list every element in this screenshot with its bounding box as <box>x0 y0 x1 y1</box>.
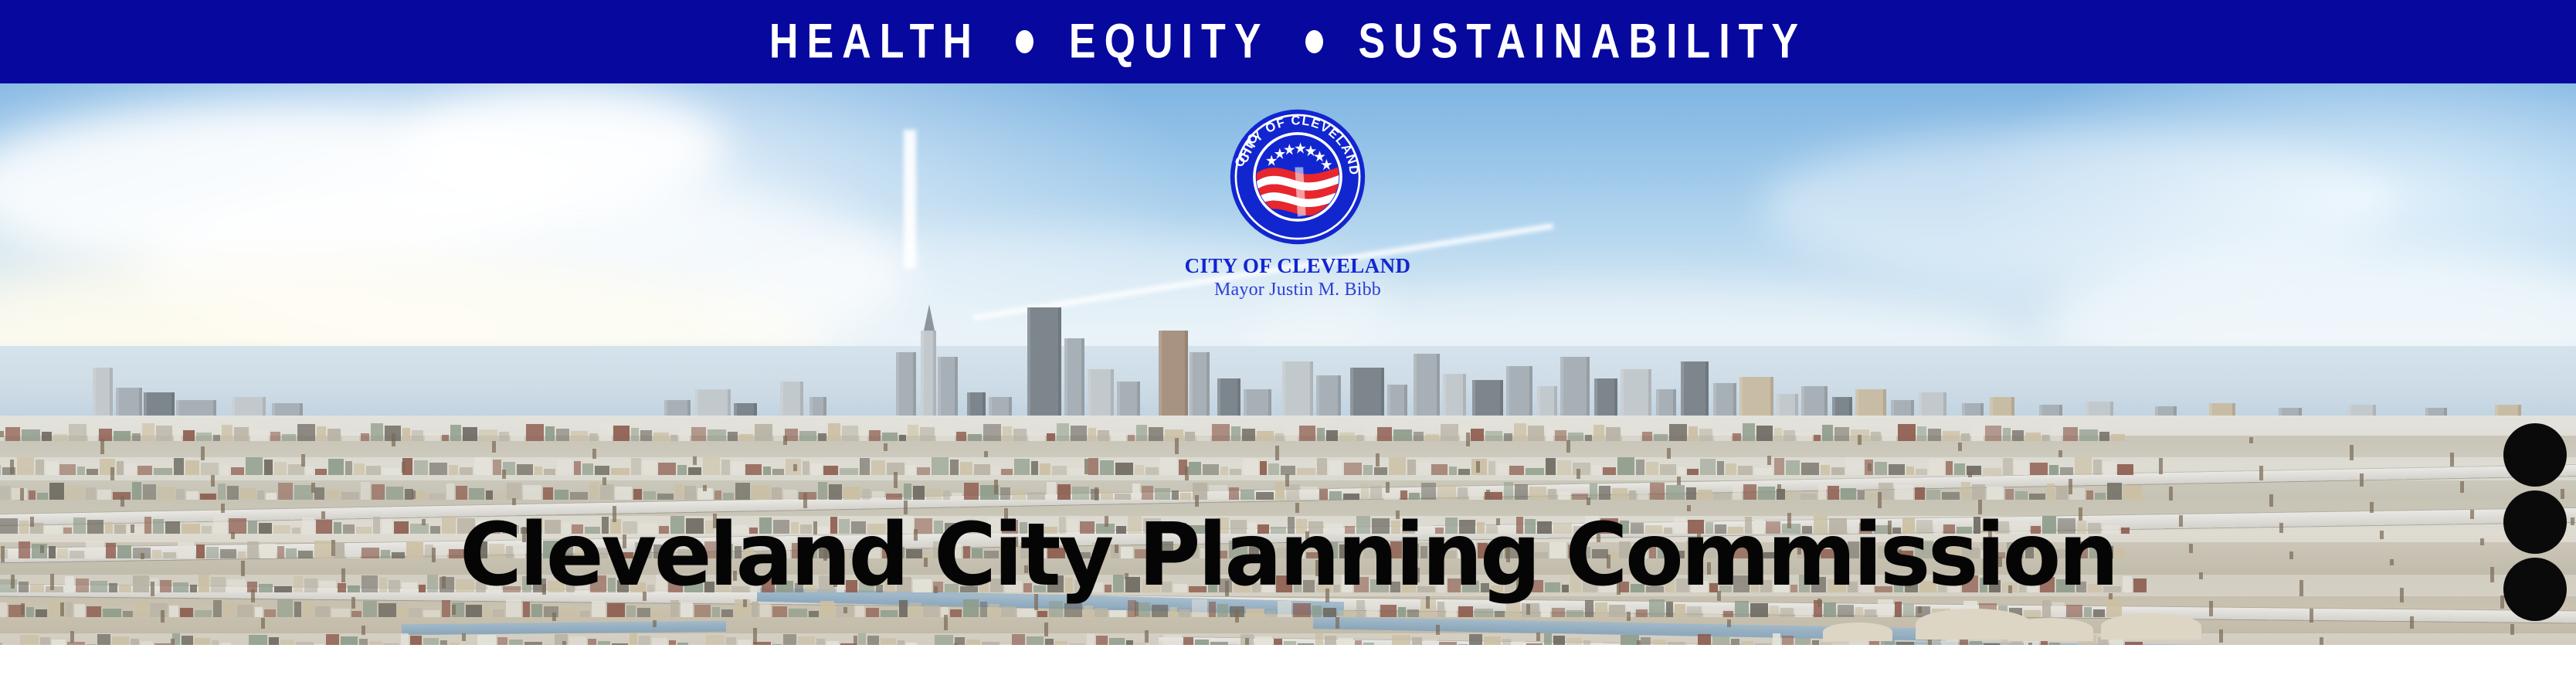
building-block <box>1743 484 1756 500</box>
tree <box>944 615 948 630</box>
tree <box>793 464 797 471</box>
building-block <box>131 639 139 645</box>
building-block <box>1961 433 1970 441</box>
building-block <box>46 462 58 475</box>
building-block <box>1469 490 1483 500</box>
building-block <box>17 457 34 475</box>
building-block <box>1096 636 1108 645</box>
building-block <box>469 488 484 500</box>
building-block <box>923 605 939 617</box>
building-block <box>1392 635 1410 645</box>
building-block <box>1960 639 1968 645</box>
building-block <box>1163 635 1182 645</box>
tree <box>120 496 124 507</box>
building-block <box>1504 482 1513 500</box>
building-block <box>2079 429 2098 441</box>
building-block <box>721 609 733 617</box>
tree <box>1777 484 1781 491</box>
building-block <box>869 430 881 441</box>
page-title: Cleveland City Planning Commission <box>19 512 2557 599</box>
building-block <box>484 607 491 617</box>
building-block <box>1774 428 1782 441</box>
building-block <box>195 638 210 645</box>
building-block <box>1319 489 1328 500</box>
building-block <box>1903 604 1914 617</box>
building-block <box>1687 606 1702 617</box>
building-block <box>1698 634 1711 645</box>
tree <box>1245 638 1249 645</box>
building-block <box>359 639 368 645</box>
building-block <box>409 608 422 617</box>
building-block <box>920 427 935 441</box>
building-block <box>545 426 555 441</box>
skyline-building <box>896 352 916 423</box>
tree <box>693 456 697 465</box>
tree <box>894 472 898 488</box>
building-block <box>250 429 269 441</box>
city-branding-block: CITY OF CLEVELAND OHIO CITY OF CLEVELAND… <box>1151 108 1444 300</box>
building-block <box>1928 429 1941 441</box>
building-block <box>0 518 18 534</box>
tree <box>2360 473 2364 487</box>
building-block <box>886 494 902 500</box>
building-block <box>1738 466 1753 475</box>
building-block <box>264 460 273 475</box>
building-block <box>466 605 482 617</box>
skyline-building <box>1681 361 1709 423</box>
tree <box>1968 471 1972 477</box>
building-block <box>1754 468 1773 475</box>
building-block <box>652 638 667 645</box>
tree <box>2269 494 2273 507</box>
contrail <box>904 130 916 269</box>
youtube-icon[interactable] <box>2503 423 2567 487</box>
building-block <box>20 635 39 645</box>
building-block <box>317 426 326 441</box>
tree <box>884 443 888 451</box>
building-block <box>1027 636 1044 645</box>
building-block <box>201 463 219 475</box>
tree <box>10 460 14 474</box>
building-block <box>497 637 507 645</box>
building-block <box>517 464 533 475</box>
building-block <box>2060 467 2073 475</box>
building-block <box>1652 640 1666 645</box>
building-block <box>1773 633 1780 645</box>
tree <box>452 605 456 615</box>
building-block <box>1100 460 1114 475</box>
building-block <box>670 435 677 441</box>
building-block <box>2063 427 2078 441</box>
building-block <box>1865 609 1876 617</box>
building-block <box>633 489 642 500</box>
building-block <box>1758 487 1775 500</box>
building-block <box>1780 608 1794 617</box>
building-block <box>1087 633 1095 645</box>
building-block <box>615 487 632 500</box>
building-block <box>1437 485 1456 500</box>
building-block <box>799 492 816 500</box>
building-block <box>429 494 445 500</box>
building-block <box>1028 431 1045 441</box>
tree <box>2159 458 2163 474</box>
building-block <box>882 433 898 441</box>
building-block <box>1713 492 1731 500</box>
building-block <box>966 640 980 645</box>
skyline-building <box>1560 357 1590 423</box>
skyline-building <box>1159 331 1188 423</box>
building-block <box>1421 483 1436 500</box>
building-block <box>1339 433 1355 441</box>
building-block <box>1377 427 1392 441</box>
building-block <box>1774 458 1784 475</box>
tree <box>1185 467 1189 480</box>
building-block <box>1212 424 1230 441</box>
building-block <box>123 611 133 617</box>
building-block <box>708 429 726 441</box>
building-block <box>818 433 826 441</box>
building-block <box>66 485 84 500</box>
building-block <box>277 599 293 617</box>
tree <box>783 436 787 445</box>
building-block <box>1871 432 1881 441</box>
building-block <box>456 486 467 500</box>
building-block <box>69 424 87 441</box>
building-block <box>860 428 867 441</box>
building-block <box>1109 638 1125 645</box>
building-block <box>331 609 350 617</box>
building-block <box>1203 464 1219 475</box>
building-block <box>486 490 493 500</box>
building-block <box>1027 492 1045 500</box>
building-block <box>1985 426 2001 441</box>
tree <box>70 631 74 643</box>
tree <box>1536 633 1540 641</box>
tree <box>161 610 165 623</box>
building-block <box>429 463 447 475</box>
building-block <box>1971 423 1984 441</box>
building-block <box>1031 461 1038 475</box>
building-block <box>1012 634 1025 645</box>
tree <box>502 470 506 479</box>
building-block <box>1312 606 1322 617</box>
building-block <box>574 461 581 475</box>
page-root: HEALTH EQUITY SUSTAINABILITY <box>0 0 2576 682</box>
building-block <box>1906 467 1914 475</box>
building-block <box>306 467 314 475</box>
tree <box>2510 624 2514 635</box>
building-block <box>1047 482 1056 500</box>
building-block <box>772 469 784 475</box>
building-block <box>855 606 864 617</box>
instagram-icon[interactable] <box>2503 490 2567 554</box>
building-block <box>386 487 403 500</box>
building-block <box>103 609 121 617</box>
building-block <box>361 433 369 441</box>
facebook-icon[interactable] <box>2503 558 2567 621</box>
tree <box>2058 450 2062 457</box>
city-of-cleveland-seal: CITY OF CLEVELAND OHIO <box>1229 108 1366 246</box>
building-block <box>314 487 324 500</box>
building-block <box>960 462 972 475</box>
building-block <box>174 458 184 475</box>
building-block <box>582 463 593 475</box>
building-block <box>97 634 110 645</box>
building-block <box>1786 460 1800 475</box>
tree <box>1 546 5 562</box>
tree <box>1175 438 1179 454</box>
building-block <box>772 606 787 617</box>
building-block <box>328 459 344 475</box>
building-block <box>341 492 359 500</box>
building-block <box>1071 426 1087 441</box>
building-block <box>1795 638 1811 645</box>
building-block <box>410 636 422 645</box>
building-block <box>1831 467 1845 475</box>
building-block <box>1274 639 1282 645</box>
tree <box>1235 609 1239 623</box>
tree <box>2370 502 2374 513</box>
building-block <box>588 639 596 645</box>
building-block <box>626 606 636 617</box>
building-block <box>442 600 450 617</box>
building-block <box>2103 462 2116 475</box>
tree <box>2069 479 2072 494</box>
tree <box>552 612 556 621</box>
tree <box>11 575 15 589</box>
building-block <box>2049 465 2058 475</box>
building-block <box>703 457 720 475</box>
building-block <box>1323 608 1336 617</box>
building-block <box>950 460 959 475</box>
building-block <box>1484 636 1501 645</box>
tree <box>1095 487 1098 500</box>
building-block <box>2075 457 2092 475</box>
building-block <box>1266 611 1276 617</box>
tree <box>1466 433 1470 446</box>
tree <box>984 451 988 457</box>
tree <box>100 439 104 454</box>
building-block <box>1882 434 1896 441</box>
tagline-banner: HEALTH EQUITY SUSTAINABILITY <box>0 0 2576 83</box>
building-block <box>1678 467 1685 475</box>
building-block <box>1142 486 1153 500</box>
building-block <box>535 467 542 475</box>
building-block <box>556 429 569 441</box>
building-block-row <box>0 457 2133 475</box>
tree <box>653 620 657 627</box>
building-block <box>1446 604 1457 617</box>
building-block <box>731 462 744 475</box>
building-block <box>908 425 918 441</box>
building-block <box>867 636 879 645</box>
building-block <box>2015 491 2028 500</box>
building-block <box>783 490 797 500</box>
tree <box>311 483 315 493</box>
building-block <box>631 428 639 441</box>
building-block <box>1646 462 1658 475</box>
building-block <box>675 484 683 500</box>
tree <box>843 607 847 613</box>
building-block <box>361 482 370 500</box>
building-block <box>402 428 410 441</box>
building-block <box>1115 463 1133 475</box>
building-block <box>956 432 966 441</box>
building-block <box>2099 432 2109 441</box>
building-block <box>816 639 825 645</box>
building-block <box>600 484 613 500</box>
tree <box>592 449 596 459</box>
building-block <box>1585 435 1592 441</box>
building-block <box>1573 463 1590 475</box>
building-block <box>1915 487 1925 500</box>
tree <box>1084 459 1088 474</box>
building-block <box>1654 434 1668 441</box>
building-block <box>1286 484 1299 500</box>
tree <box>462 633 466 641</box>
tree <box>201 446 205 460</box>
building-block <box>1566 638 1582 645</box>
building-block <box>36 460 44 475</box>
building-block <box>326 634 339 645</box>
building-block <box>866 608 879 617</box>
tree <box>2350 445 2354 460</box>
building-block <box>22 429 40 441</box>
bottom-white-strip <box>0 645 2576 682</box>
building-block <box>1115 494 1131 500</box>
building-block <box>1592 465 1601 475</box>
building-block <box>372 484 385 500</box>
building-block <box>366 466 381 475</box>
building-block <box>1622 429 1641 441</box>
building-block <box>223 602 236 617</box>
building-block <box>1398 607 1406 617</box>
building-block <box>858 633 866 645</box>
tree <box>1044 623 1048 636</box>
tree <box>20 488 24 500</box>
building-block <box>442 435 449 441</box>
building-block <box>872 491 884 500</box>
building-block <box>1828 486 1839 500</box>
building-block <box>1926 490 1940 500</box>
building-block <box>477 635 496 645</box>
building-block <box>1743 423 1755 441</box>
tree <box>2460 481 2464 493</box>
building-block <box>752 485 770 500</box>
skyline-building <box>1064 338 1084 423</box>
building-block <box>398 606 407 617</box>
building-block <box>840 468 858 475</box>
building-block <box>643 491 656 500</box>
building-block <box>1638 493 1648 500</box>
building-block <box>723 493 734 500</box>
tagline-word-health: HEALTH <box>769 17 980 66</box>
building-block <box>842 426 858 441</box>
tree <box>211 475 215 487</box>
building-block <box>818 482 827 500</box>
building-block <box>2025 433 2041 441</box>
building-block <box>9 551 17 558</box>
building-block <box>1255 636 1272 645</box>
building-block <box>1425 434 1439 441</box>
building-block <box>1101 491 1113 500</box>
building-block <box>714 490 721 500</box>
building-block <box>1726 463 1736 475</box>
building-block <box>1037 611 1047 617</box>
building-block <box>1469 634 1482 645</box>
building-block <box>1485 431 1502 441</box>
building-block <box>463 427 477 441</box>
building-block <box>860 458 870 475</box>
building-block <box>0 486 10 500</box>
building-block <box>571 431 588 441</box>
building-block <box>1895 485 1913 500</box>
building-block <box>1866 493 1877 500</box>
building-block <box>613 426 630 441</box>
building-block <box>40 637 50 645</box>
building-block <box>1666 485 1685 500</box>
building-block <box>1497 463 1508 475</box>
building-block <box>1109 610 1126 617</box>
building-block <box>87 469 98 475</box>
building-block <box>231 467 244 475</box>
building-block <box>342 431 359 441</box>
building-block <box>1196 434 1210 441</box>
building-block <box>88 426 97 441</box>
tree <box>1145 630 1149 643</box>
building-block <box>1954 463 1965 475</box>
building-block <box>1495 611 1505 617</box>
building-block <box>657 494 674 500</box>
building-block <box>1515 484 1528 500</box>
building-block <box>1617 457 1634 475</box>
tree <box>351 597 355 609</box>
building-block <box>643 460 657 475</box>
building-block <box>449 465 458 475</box>
building-block <box>1514 423 1526 441</box>
building-block <box>1414 432 1424 441</box>
building-block <box>87 606 101 617</box>
building-block <box>555 490 568 500</box>
tree <box>1526 604 1530 615</box>
building-block <box>1088 428 1096 441</box>
building-block <box>1407 609 1419 617</box>
building-block <box>142 423 154 441</box>
building-block <box>712 607 720 617</box>
building-block <box>1946 461 1953 475</box>
building-block <box>1431 464 1448 475</box>
tree <box>0 431 4 437</box>
building-block <box>1636 460 1644 475</box>
building-block <box>1528 426 1544 441</box>
building-block <box>77 467 85 475</box>
tree <box>2169 487 2173 500</box>
building-block <box>1317 458 1327 475</box>
building-block <box>1040 463 1050 475</box>
building-block <box>1636 609 1648 617</box>
building-block <box>479 429 497 441</box>
building-block <box>53 434 67 441</box>
tree <box>1376 453 1380 467</box>
building-block <box>789 609 807 617</box>
building-block <box>557 459 572 475</box>
building-block <box>499 432 509 441</box>
building-block <box>0 465 1 475</box>
building-block <box>1370 486 1382 500</box>
building-block <box>631 458 641 475</box>
building-block <box>1111 433 1126 441</box>
tree <box>402 462 406 473</box>
